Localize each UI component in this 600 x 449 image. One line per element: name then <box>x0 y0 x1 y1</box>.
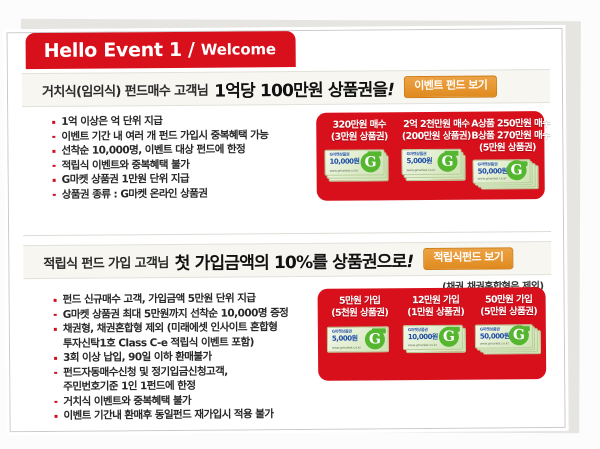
voucher-stack: G마켓상품권 5,000원 www.gmarket.co.kr G <box>401 147 471 186</box>
tier-caption-line2: (5천원 상품권) <box>322 307 398 320</box>
view-installment-fund-button[interactable]: 적립식펀드 보기 <box>423 248 513 270</box>
tier-caption-line1: 2억 2천만원 매수 <box>395 119 477 132</box>
voucher-stack: G마켓상품권 10,000원 www.gmarket.co.kr G <box>324 147 394 186</box>
section-lead-text: 거치식(임의식) 펀드매수 고객님 <box>42 79 208 99</box>
section-bullet-list: 펀드 신규매수 고객, 가입금액 5만원 단위 지급 G마켓 상품권 최대 5만… <box>54 291 290 423</box>
voucher-url: www.gmarket.co.kr <box>330 169 359 173</box>
page-title: Hello Event 1 <box>44 39 182 62</box>
section-deposit-fund: 거치식(임의식) 펀드매수 고객님 1억당 100만원 상품권을! 이벤트 펀드… <box>22 69 551 233</box>
voucher-card-front: G마켓상품권 10,000원 www.gmarket.co.kr G <box>403 325 463 350</box>
voucher-panel: 5만원 가입 (5천원 상품권) G마켓상품권 5,000원 www.gmark… <box>318 287 547 381</box>
tier-caption-line2: (1만원 상품권) <box>398 307 474 320</box>
voucher-tier: 320만원 매수 (3만원 상품권) G마켓상품권 10,000원 www.gm… <box>320 119 399 186</box>
tier-caption-line3: (5만원 상품권) <box>471 142 543 155</box>
tier-caption-line1: 320만원 매수 <box>320 119 398 132</box>
gmarket-logo-icon: G <box>365 329 385 349</box>
voucher-panel: 320만원 매수 (3만원 상품권) G마켓상품권 10,000원 www.gm… <box>316 111 545 201</box>
voucher-url: www.gmarket.co.kr <box>478 176 507 180</box>
page-root: Hello Event 1 / Welcome 거치식(임의식) 펀드매수 고객… <box>0 0 600 449</box>
voucher-tier: 12만원 가입 (1만원 상품권) G마켓상품권 10,000원 www.gma… <box>398 295 474 358</box>
section-header: 적립식 펀드 가입 고객님 첫 가입금액의 10%를 상품권으로! 적립식펀드 … <box>23 241 551 279</box>
tier-caption-line1: 50만원 가입 <box>474 294 544 307</box>
voucher-card-front: G마켓상품권 10,000원 www.gmarket.co.kr G <box>324 149 384 175</box>
voucher-amount: 5,000원 <box>406 156 432 166</box>
voucher-tier: A상품 250만원 매수 B상품 270만원 매수 (5만원 상품권) G마켓상… <box>471 118 544 191</box>
voucher-url: www.gmarket.co.kr <box>408 343 437 347</box>
tier-caption-line2: B상품 270만원 매수 <box>471 130 543 143</box>
gmarket-logo-icon: G <box>360 152 380 172</box>
voucher-card-front: G마켓상품권 50,000원 www.gmarket.co.kr G <box>475 324 533 348</box>
tier-caption-line2: (5만원 상품권) <box>474 306 544 319</box>
voucher-stack: G마켓상품권 10,000원 www.gmarket.co.kr G <box>403 323 469 358</box>
voucher-amount: 10,000원 <box>408 332 438 342</box>
page-subtitle: Welcome <box>201 40 276 59</box>
event-card-wrapper: Hello Event 1 / Welcome 거치식(임의식) 펀드매수 고객… <box>6 4 587 441</box>
voucher-amount: 50,000원 <box>480 331 510 341</box>
section-header: 거치식(임의식) 펀드매수 고객님 1억당 100만원 상품권을! 이벤트 펀드… <box>22 69 550 107</box>
title-separator: / <box>188 39 195 61</box>
voucher-url: www.gmarket.co.kr <box>332 346 361 350</box>
gmarket-logo-icon: G <box>439 327 459 347</box>
voucher-card-front: G마켓상품권 5,000원 www.gmarket.co.kr G <box>327 326 389 352</box>
voucher-card-front: G마켓상품권 50,000원 www.gmarket.co.kr G <box>473 159 531 183</box>
list-item: 이벤트 기간내 환매후 동일펀드 재가입시 적용 불가 <box>54 407 289 423</box>
voucher-stack: G마켓상품권 50,000원 www.gmarket.co.kr G <box>475 322 543 357</box>
tier-caption-line2: (200만원 상품권) <box>395 131 477 144</box>
tier-caption-line1: 12만원 가입 <box>398 295 474 308</box>
tier-caption-line1: A상품 250만원 매수 <box>471 118 543 131</box>
event-card: Hello Event 1 / Welcome 거치식(임의식) 펀드매수 고객… <box>7 28 566 432</box>
voucher-stack: G마켓상품권 50,000원 www.gmarket.co.kr G <box>473 158 543 191</box>
tier-caption-line2: (3만원 상품권) <box>320 131 398 144</box>
gmarket-logo-icon: G <box>507 160 527 180</box>
section-bullet-list: 1억 이상은 억 단위 지급 이벤트 기간 내 여러 개 펀드 가입시 중복혜택… <box>52 113 269 202</box>
voucher-tier: 2억 2천만원 매수 (200만원 상품권) G마켓상품권 5,000원 www… <box>395 119 478 186</box>
gmarket-logo-icon: G <box>509 325 529 345</box>
voucher-tier: 50만원 가입 (5만원 상품권) G마켓상품권 50,000원 www.gma… <box>474 294 544 357</box>
gmarket-logo-icon: G <box>437 152 457 172</box>
voucher-stack: G마켓상품권 5,000원 www.gmarket.co.kr G <box>327 323 393 358</box>
header-tab: Hello Event 1 / Welcome <box>26 31 296 69</box>
voucher-amount: 5,000원 <box>332 334 358 344</box>
voucher-amount: 50,000원 <box>478 166 508 176</box>
voucher-tier: 5만원 가입 (5천원 상품권) G마켓상품권 5,000원 www.gmark… <box>322 295 398 358</box>
section-lead-text: 적립식 펀드 가입 고객님 <box>43 252 169 272</box>
voucher-url: www.gmarket.co.kr <box>480 341 509 345</box>
section-installment-fund: 적립식 펀드 가입 고객님 첫 가입금액의 10%를 상품권으로! 적립식펀드 … <box>23 241 552 421</box>
list-item: 상품권 종류 : G마켓 온라인 상품권 <box>53 186 269 202</box>
section-highlight-text: 첫 가입금액의 10%를 상품권으로! <box>175 247 414 274</box>
view-event-fund-button[interactable]: 이벤트 펀드 보기 <box>404 76 497 98</box>
tier-caption-line1: 5만원 가입 <box>322 295 398 308</box>
voucher-card-front: G마켓상품권 5,000원 www.gmarket.co.kr G <box>401 149 461 175</box>
section-highlight-text: 1억당 100만원 상품권을! <box>214 75 394 101</box>
voucher-amount: 10,000원 <box>329 157 359 167</box>
voucher-url: www.gmarket.co.kr <box>407 168 436 172</box>
